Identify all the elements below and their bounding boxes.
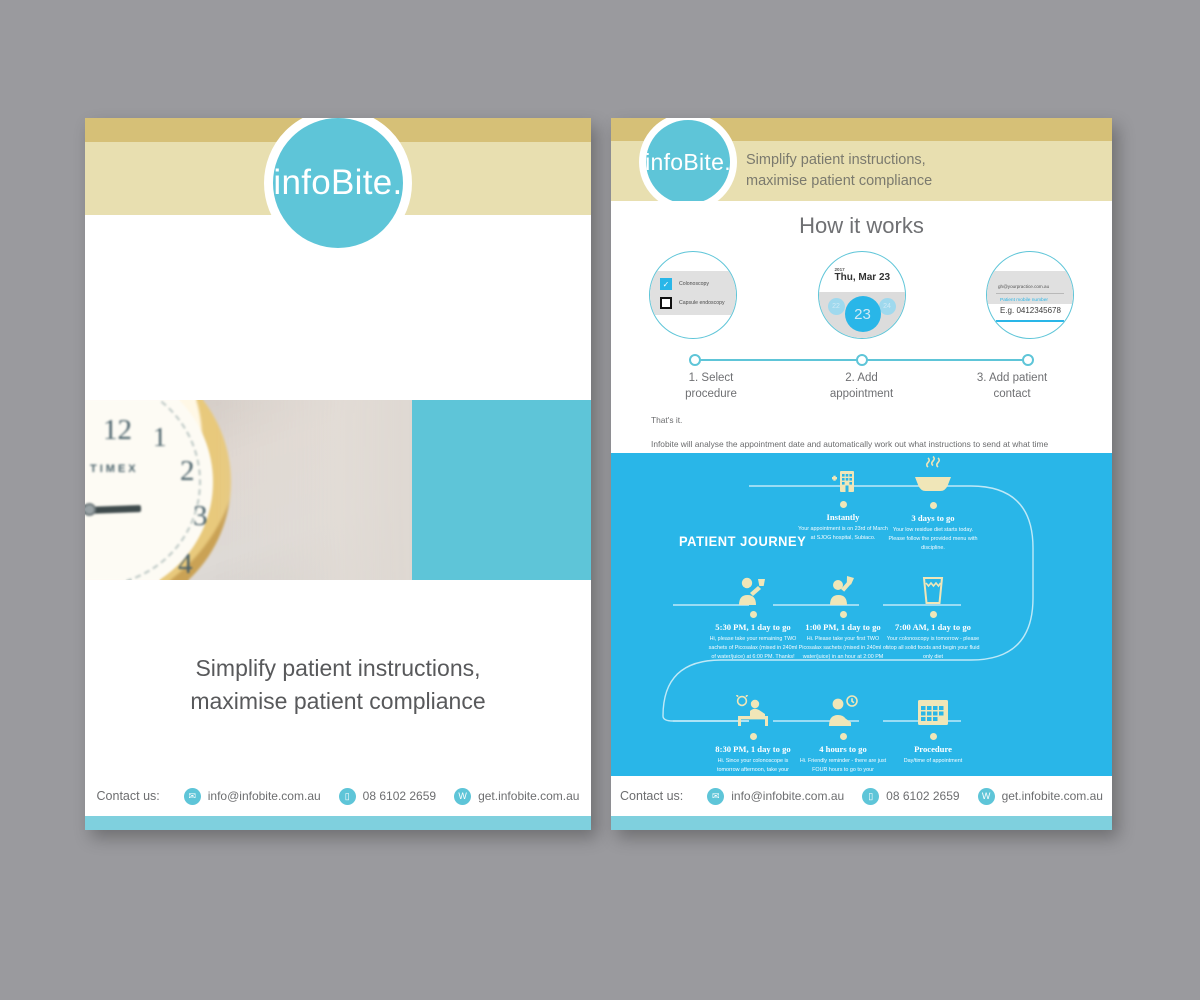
footer-phone-text: 08 6102 2659 (363, 789, 436, 803)
right-bottom-bar (611, 816, 1112, 830)
progress-node-2[interactable] (856, 354, 868, 366)
left-photo-row: 12 1 2 3 4 TIMEX (85, 400, 591, 580)
checkbox-checked-icon[interactable]: ✓ (660, 278, 672, 290)
clock-photo-blur (85, 400, 412, 580)
journey-heading: 3 days to go (879, 513, 987, 523)
date-prev-day[interactable]: 22 (828, 298, 845, 315)
thats-it-text: That's it. (651, 414, 1072, 427)
footer-email-text: info@infobite.com.au (731, 789, 844, 803)
date-headline: Thu, Mar 23 (835, 272, 891, 283)
footer-website-text: get.infobite.com.au (478, 789, 579, 803)
left-bottom-bar (85, 816, 591, 830)
journey-node-procedure: Procedure Day/time of appointment (879, 693, 987, 766)
practice-email-field[interactable]: gh@yourpractice.com.au (998, 284, 1049, 289)
journey-heading: Procedure (879, 744, 987, 754)
contact-label: Contact us: (97, 789, 160, 803)
journey-node-700am: 7:00 AM, 1 day to go Your colonoscopy is… (879, 571, 987, 662)
envelope-icon: ✉ (707, 788, 724, 805)
journey-dot (750, 611, 757, 618)
contact-label: Contact us: (620, 789, 683, 803)
progress-node-1[interactable] (689, 354, 701, 366)
procedure-options: ✓ Colonoscopy Capsule endoscopy (660, 278, 725, 316)
mobile-field-label: Patient mobile number (1000, 298, 1048, 303)
right-header-line-2: maximise patient compliance (746, 173, 932, 189)
mobile-field-underline (996, 320, 1064, 322)
journey-node-three-days: 3 days to go Your low residue diet start… (879, 455, 987, 553)
procedure-option-label: Capsule endoscopy (679, 300, 725, 306)
tagline-line-1: Simplify patient instructions, (195, 655, 480, 681)
phone-icon: ▯ (862, 788, 879, 805)
practice-email-underline (996, 293, 1064, 294)
journey-dot (750, 733, 757, 740)
left-sand-band: infoBite. (85, 142, 591, 215)
patient-journey-section: PATIENT JOURNEY (611, 453, 1112, 790)
soup-bowl-body-icon (879, 475, 987, 496)
patient-contact-circle[interactable]: gh@yourpractice.com.au Patient mobile nu… (986, 251, 1074, 339)
left-footer: Contact us: ✉ info@infobite.com.au ▯ 08 … (85, 776, 591, 830)
page-right: infoBite. Simplify patient instructions,… (611, 118, 1112, 830)
step-2-line-1: 2. Add (845, 372, 878, 384)
date-selected-day[interactable]: 23 (845, 296, 881, 332)
right-header-line-1: Simplify patient instructions, (746, 152, 926, 168)
step-3-line-1: 3. Add patient (977, 372, 1047, 384)
procedure-option-colonoscopy[interactable]: ✓ Colonoscopy (660, 278, 725, 290)
footer-website[interactable]: W get.infobite.com.au (454, 788, 579, 805)
date-next-day[interactable]: 24 (879, 298, 896, 315)
footer-phone-text: 08 6102 2659 (886, 789, 959, 803)
logo-text-right: infoBite. (645, 149, 731, 176)
how-it-works-section: How it works ✓ Colonoscopy Capsule endos… (611, 201, 1112, 453)
footer-email-text: info@infobite.com.au (208, 789, 321, 803)
right-header-tagline: Simplify patient instructions, maximise … (746, 150, 932, 192)
page-left: infoBite. 12 1 2 3 4 TIMEX (85, 118, 591, 830)
wordpress-icon: W (978, 788, 995, 805)
journey-dot (930, 611, 937, 618)
tagline-line-2: maximise patient compliance (190, 688, 485, 714)
how-it-works-title: How it works (611, 201, 1112, 239)
poster-stage: infoBite. 12 1 2 3 4 TIMEX (0, 0, 1200, 1000)
how-it-works-circles: ✓ Colonoscopy Capsule endoscopy 2017 Thu… (611, 239, 1112, 339)
step-label-3: 3. Add patient contact (952, 371, 1072, 402)
left-tagline: Simplify patient instructions, maximise … (85, 580, 591, 790)
step-1-line-2: procedure (685, 388, 737, 400)
right-footer: Contact us: ✉ info@infobite.com.au ▯ 08 … (611, 776, 1112, 830)
footer-phone[interactable]: ▯ 08 6102 2659 (862, 788, 959, 805)
step-label-1: 1. Select procedure (651, 371, 771, 402)
step-3-line-2: contact (993, 388, 1030, 400)
procedure-option-label: Colonoscopy (679, 281, 709, 287)
water-glass-icon (879, 571, 987, 605)
footer-website[interactable]: W get.infobite.com.au (978, 788, 1103, 805)
journey-body: Your low residue diet starts today. Plea… (879, 526, 987, 553)
journey-dot (930, 733, 937, 740)
logo-badge-right: infoBite. (639, 118, 737, 211)
journey-body: Day/time of appointment (879, 757, 987, 766)
logo-text: infoBite. (273, 163, 402, 203)
progress-node-3[interactable] (1022, 354, 1034, 366)
checkbox-unchecked-icon[interactable] (660, 297, 672, 309)
journey-body: Your colonoscopy is tomorrow - please st… (879, 635, 987, 662)
right-sand-band: infoBite. Simplify patient instructions,… (611, 141, 1112, 201)
journey-dot (840, 611, 847, 618)
journey-dot (840, 501, 847, 508)
footer-phone[interactable]: ▯ 08 6102 2659 (339, 788, 436, 805)
journey-dot (930, 502, 937, 509)
calendar-icon (879, 693, 987, 727)
step-2-line-2: appointment (830, 388, 893, 400)
step-1-line-1: 1. Select (689, 372, 734, 384)
phone-icon: ▯ (339, 788, 356, 805)
explainer-line-1: Infobite will analyse the appointment da… (651, 439, 1048, 449)
footer-website-text: get.infobite.com.au (1002, 789, 1103, 803)
step-labels: 1. Select procedure 2. Add appointment 3… (611, 367, 1112, 402)
step-label-2: 2. Add appointment (802, 371, 922, 402)
left-cyan-block (412, 400, 591, 580)
progress-track (689, 353, 1034, 367)
mobile-field-value[interactable]: E.g. 0412345678 (1000, 306, 1061, 315)
journey-dot (840, 733, 847, 740)
envelope-icon: ✉ (184, 788, 201, 805)
footer-email[interactable]: ✉ info@infobite.com.au (707, 788, 844, 805)
clock-photo: 12 1 2 3 4 TIMEX (85, 400, 412, 580)
procedure-select-circle[interactable]: ✓ Colonoscopy Capsule endoscopy (649, 251, 737, 339)
journey-heading: 7:00 AM, 1 day to go (879, 622, 987, 632)
footer-email[interactable]: ✉ info@infobite.com.au (184, 788, 321, 805)
date-picker-circle[interactable]: 2017 Thu, Mar 23 22 24 23 (818, 251, 906, 339)
wordpress-icon: W (454, 788, 471, 805)
procedure-option-capsule[interactable]: Capsule endoscopy (660, 297, 725, 309)
